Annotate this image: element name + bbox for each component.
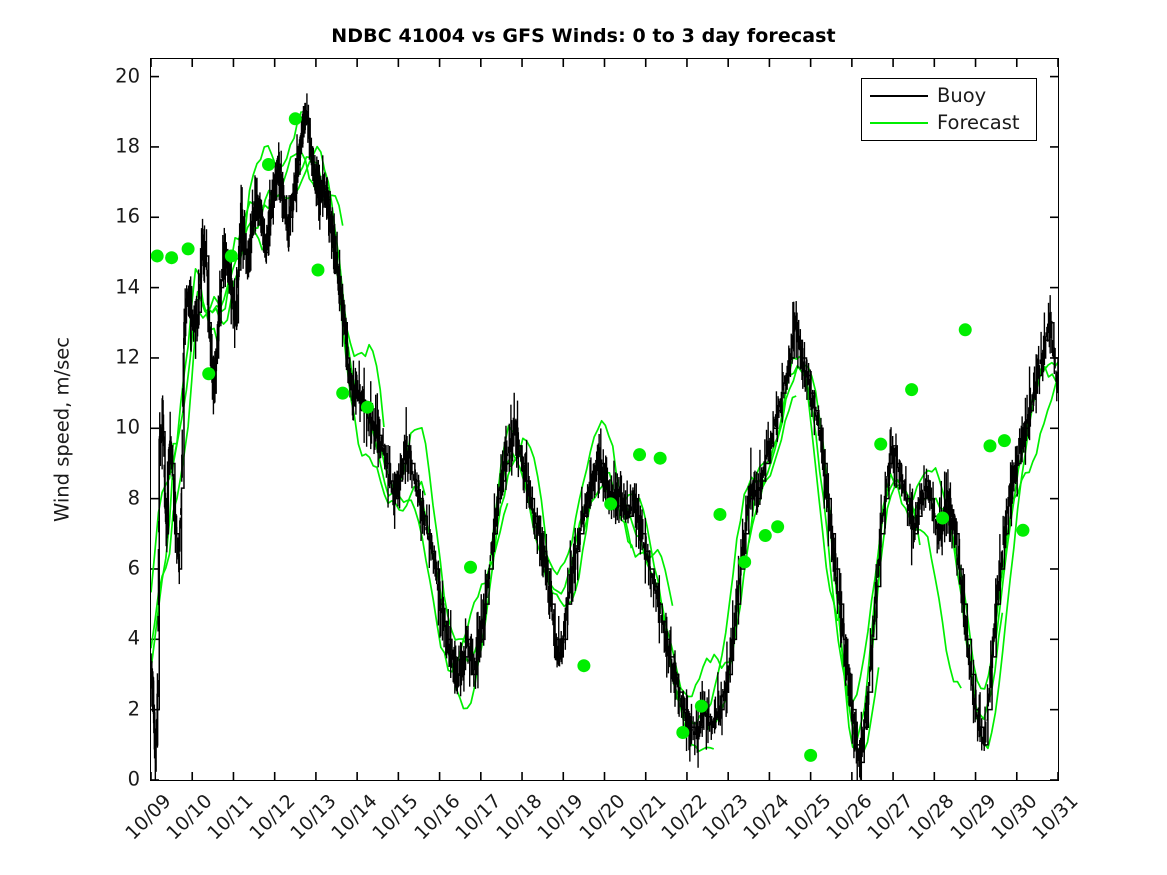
x-tick-label: 10/15 [369,790,423,844]
x-tick-label: 10/24 [740,790,794,844]
forecast-marker [289,112,302,125]
forecast-marker [464,561,477,574]
plot-canvas [151,59,1058,780]
x-tick-label: 10/13 [286,790,340,844]
x-tick-label: 10/21 [616,790,670,844]
forecast-marker [336,387,349,400]
y-tick-label: 6 [100,556,140,579]
x-tick-label: 10/16 [410,790,464,844]
y-tick-label: 0 [100,768,140,791]
y-axis-label: Wind speed, m/sec [51,315,74,545]
x-tick-label: 10/27 [863,790,917,844]
x-tick-label: 10/22 [657,790,711,844]
x-tick-label: 10/30 [987,790,1041,844]
y-axis-tick-labels: 02468101214161820 [92,58,140,779]
forecast-line [151,222,262,649]
x-tick-label: 10/26 [822,790,876,844]
forecast-marker [262,158,275,171]
x-tick-label: 10/18 [492,790,546,844]
forecast-marker [182,242,195,255]
forecast-marker [577,659,590,672]
forecast-marker [983,439,996,452]
y-tick-label: 18 [100,134,140,157]
forecast-marker [311,264,324,277]
forecast-marker [695,700,708,713]
forecast-marker [1016,524,1029,537]
x-tick-label: 10/10 [162,790,216,844]
forecast-marker [804,749,817,762]
y-tick-label: 14 [100,275,140,298]
x-tick-label: 10/28 [905,790,959,844]
chart-legend: Buoy Forecast [861,78,1037,141]
forecast-marker [633,448,646,461]
forecast-marker [676,726,689,739]
chart-title: NDBC 41004 vs GFS Winds: 0 to 3 day fore… [0,25,1167,47]
forecast-marker [874,438,887,451]
x-tick-label: 10/17 [451,790,505,844]
x-tick-label: 10/23 [698,790,752,844]
y-tick-label: 12 [100,345,140,368]
forecast-marker [738,555,751,568]
forecast-marker [759,529,772,542]
x-tick-label: 10/20 [575,790,629,844]
x-tick-label: 10/25 [781,790,835,844]
forecast-marker [713,508,726,521]
forecast-marker [151,249,164,262]
x-tick-label: 10/19 [534,790,588,844]
forecast-marker [604,497,617,510]
y-tick-label: 2 [100,697,140,720]
forecast-marker [202,367,215,380]
forecast-marker [905,383,918,396]
legend-label-buoy: Buoy [937,86,986,106]
forecast-line [337,261,467,644]
forecast-marker [998,434,1011,447]
legend-entry-forecast: Forecast [870,110,1020,136]
forecast-line [584,486,714,751]
y-tick-label: 20 [100,64,140,87]
legend-label-forecast: Forecast [937,113,1020,133]
forecast-marker [225,249,238,262]
forecast-marker [654,452,667,465]
forecast-marker [165,251,178,264]
legend-swatch-buoy [870,95,928,97]
x-tick-label: 10/14 [327,790,381,844]
x-tick-label: 10/11 [204,790,258,844]
y-tick-label: 10 [100,416,140,439]
legend-entry-buoy: Buoy [870,83,986,109]
forecast-marker [959,323,972,336]
plot-area[interactable] [150,58,1059,781]
x-tick-label: 10/29 [946,790,1000,844]
x-tick-label: 10/31 [1028,790,1082,844]
y-tick-label: 16 [100,205,140,228]
forecast-marker [771,520,784,533]
legend-swatch-forecast [870,122,928,124]
x-tick-label: 10/09 [121,790,175,844]
y-tick-label: 8 [100,486,140,509]
y-tick-label: 4 [100,627,140,650]
buoy-series-line [151,93,1058,780]
x-tick-label: 10/12 [245,790,299,844]
forecast-marker [361,401,374,414]
forecast-marker [936,511,949,524]
chart-figure: NDBC 41004 vs GFS Winds: 0 to 3 day fore… [0,0,1167,875]
axis-ticks [151,59,1058,780]
